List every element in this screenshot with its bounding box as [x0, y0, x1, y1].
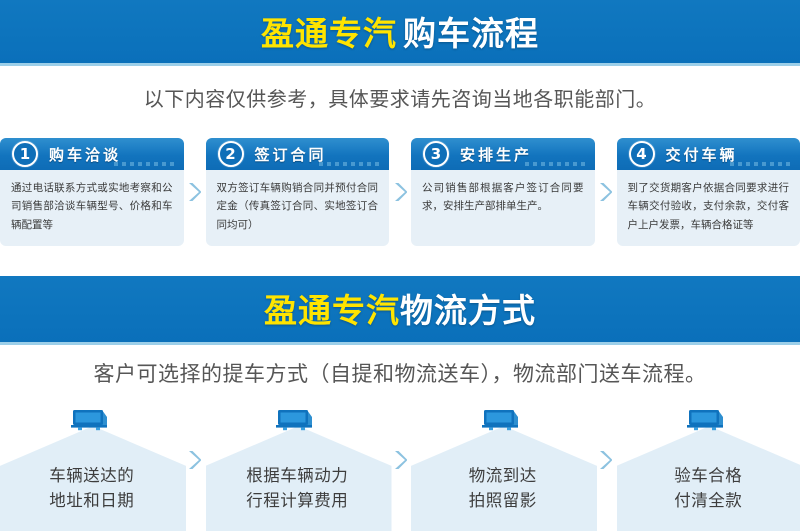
logistics-card-text-4: 验车合格 付清全款 — [617, 463, 800, 514]
logistics-card-line2: 付清全款 — [617, 488, 800, 514]
truck-icon — [480, 407, 526, 433]
truck-icon — [685, 407, 731, 433]
logistics-card-line1: 物流到达 — [411, 463, 595, 489]
logistics-card-2[interactable]: 根据车辆动力 行程计算费用 — [206, 404, 390, 531]
step-title-2: 签订合同 — [255, 144, 327, 165]
logistics-card-line1: 车辆送达的 — [0, 463, 184, 489]
chevron-right-icon — [188, 182, 201, 202]
purchase-banner-suffix: 购车流程 — [403, 14, 539, 53]
logistics-banner-suffix: 物流方式 — [400, 291, 536, 330]
step-title-3: 安排生产 — [460, 144, 532, 165]
step-card-3[interactable]: 3 安排生产 公司销售部根据客户签订合同要求，安排生产部排单生产。 — [411, 138, 595, 246]
logistics-card-1[interactable]: 车辆送达的 地址和日期 — [0, 404, 184, 531]
logistics-card-text-2: 根据车辆动力 行程计算费用 — [206, 463, 390, 514]
logistics-card-line2: 地址和日期 — [0, 488, 184, 514]
purchase-banner: 盈通专汽购车流程 — [0, 0, 800, 66]
logistics-banner-title: 盈通专汽物流方式 — [264, 294, 536, 327]
purchase-steps-row: 1 购车洽谈 通过电话联系方式或实地考察和公司销售部洽谈车辆型号、价格和车辆配置… — [0, 138, 800, 246]
chevron-right-icon — [188, 450, 201, 470]
step-body-1: 通过电话联系方式或实地考察和公司销售部洽谈车辆型号、价格和车辆配置等 — [0, 170, 184, 234]
logistics-card-text-1: 车辆送达的 地址和日期 — [0, 463, 184, 514]
logistics-card-3[interactable]: 物流到达 拍照留影 — [411, 404, 595, 531]
step-body-4: 到了交货期客户依据合同要求进行车辆交付验收，支付余款，交付客户上户发票，车辆合格… — [617, 170, 800, 234]
chevron-right-icon — [394, 182, 407, 202]
step-title-1: 购车洽谈 — [49, 144, 121, 165]
step-body-3: 公司销售部根据客户签订合同要求，安排生产部排单生产。 — [411, 170, 595, 216]
brand-text: 盈通专汽 — [261, 14, 397, 53]
truck-icon — [69, 407, 115, 433]
step-header-3: 3 安排生产 — [411, 138, 595, 170]
step-number-badge-3: 3 — [423, 141, 449, 167]
step-body-2: 双方签订车辆购销合同并预付合同定金（传真签订合同、实地签订合同均可） — [206, 170, 390, 234]
logistics-arrow-1 — [184, 404, 206, 531]
logistics-card-line1: 根据车辆动力 — [206, 463, 390, 489]
logistics-arrow-3 — [595, 404, 617, 531]
step-number-badge-4: 4 — [629, 141, 655, 167]
brand-text: 盈通专汽 — [264, 291, 400, 330]
step-header-2: 2 签订合同 — [206, 138, 390, 170]
logistics-subtitle: 客户可选择的提车方式（自提和物流送车），物流部门送车流程。 — [0, 358, 800, 388]
step-arrow-3 — [595, 138, 617, 246]
logistics-card-line2: 拍照留影 — [411, 488, 595, 514]
logistics-card-4[interactable]: 验车合格 付清全款 — [617, 404, 800, 531]
step-card-1[interactable]: 1 购车洽谈 通过电话联系方式或实地考察和公司销售部洽谈车辆型号、价格和车辆配置… — [0, 138, 184, 246]
step-number-badge-2: 2 — [218, 141, 244, 167]
chevron-right-icon — [599, 450, 612, 470]
step-title-4: 交付车辆 — [666, 144, 738, 165]
infographic-page: 盈通专汽购车流程 以下内容仅供参考，具体要求请先咨询当地各职能部门。 1 购车洽… — [0, 0, 800, 531]
chevron-right-icon — [394, 450, 407, 470]
logistics-card-line1: 验车合格 — [617, 463, 800, 489]
step-arrow-2 — [389, 138, 411, 246]
step-header-1: 1 购车洽谈 — [0, 138, 184, 170]
logistics-card-text-3: 物流到达 拍照留影 — [411, 463, 595, 514]
purchase-banner-title: 盈通专汽购车流程 — [261, 17, 539, 50]
logistics-arrow-2 — [389, 404, 411, 531]
logistics-banner: 盈通专汽物流方式 — [0, 276, 800, 345]
purchase-subtitle: 以下内容仅供参考，具体要求请先咨询当地各职能部门。 — [0, 83, 800, 112]
logistics-cards-row: 车辆送达的 地址和日期 根据车辆动力 行程计算费用 — [0, 404, 800, 531]
truck-icon — [274, 407, 320, 433]
step-header-4: 4 交付车辆 — [617, 138, 800, 170]
logistics-card-line2: 行程计算费用 — [206, 488, 390, 514]
chevron-right-icon — [599, 182, 612, 202]
step-number-badge-1: 1 — [12, 141, 38, 167]
step-card-2[interactable]: 2 签订合同 双方签订车辆购销合同并预付合同定金（传真签订合同、实地签订合同均可… — [206, 138, 390, 246]
step-card-4[interactable]: 4 交付车辆 到了交货期客户依据合同要求进行车辆交付验收，支付余款，交付客户上户… — [617, 138, 800, 246]
step-arrow-1 — [184, 138, 206, 246]
